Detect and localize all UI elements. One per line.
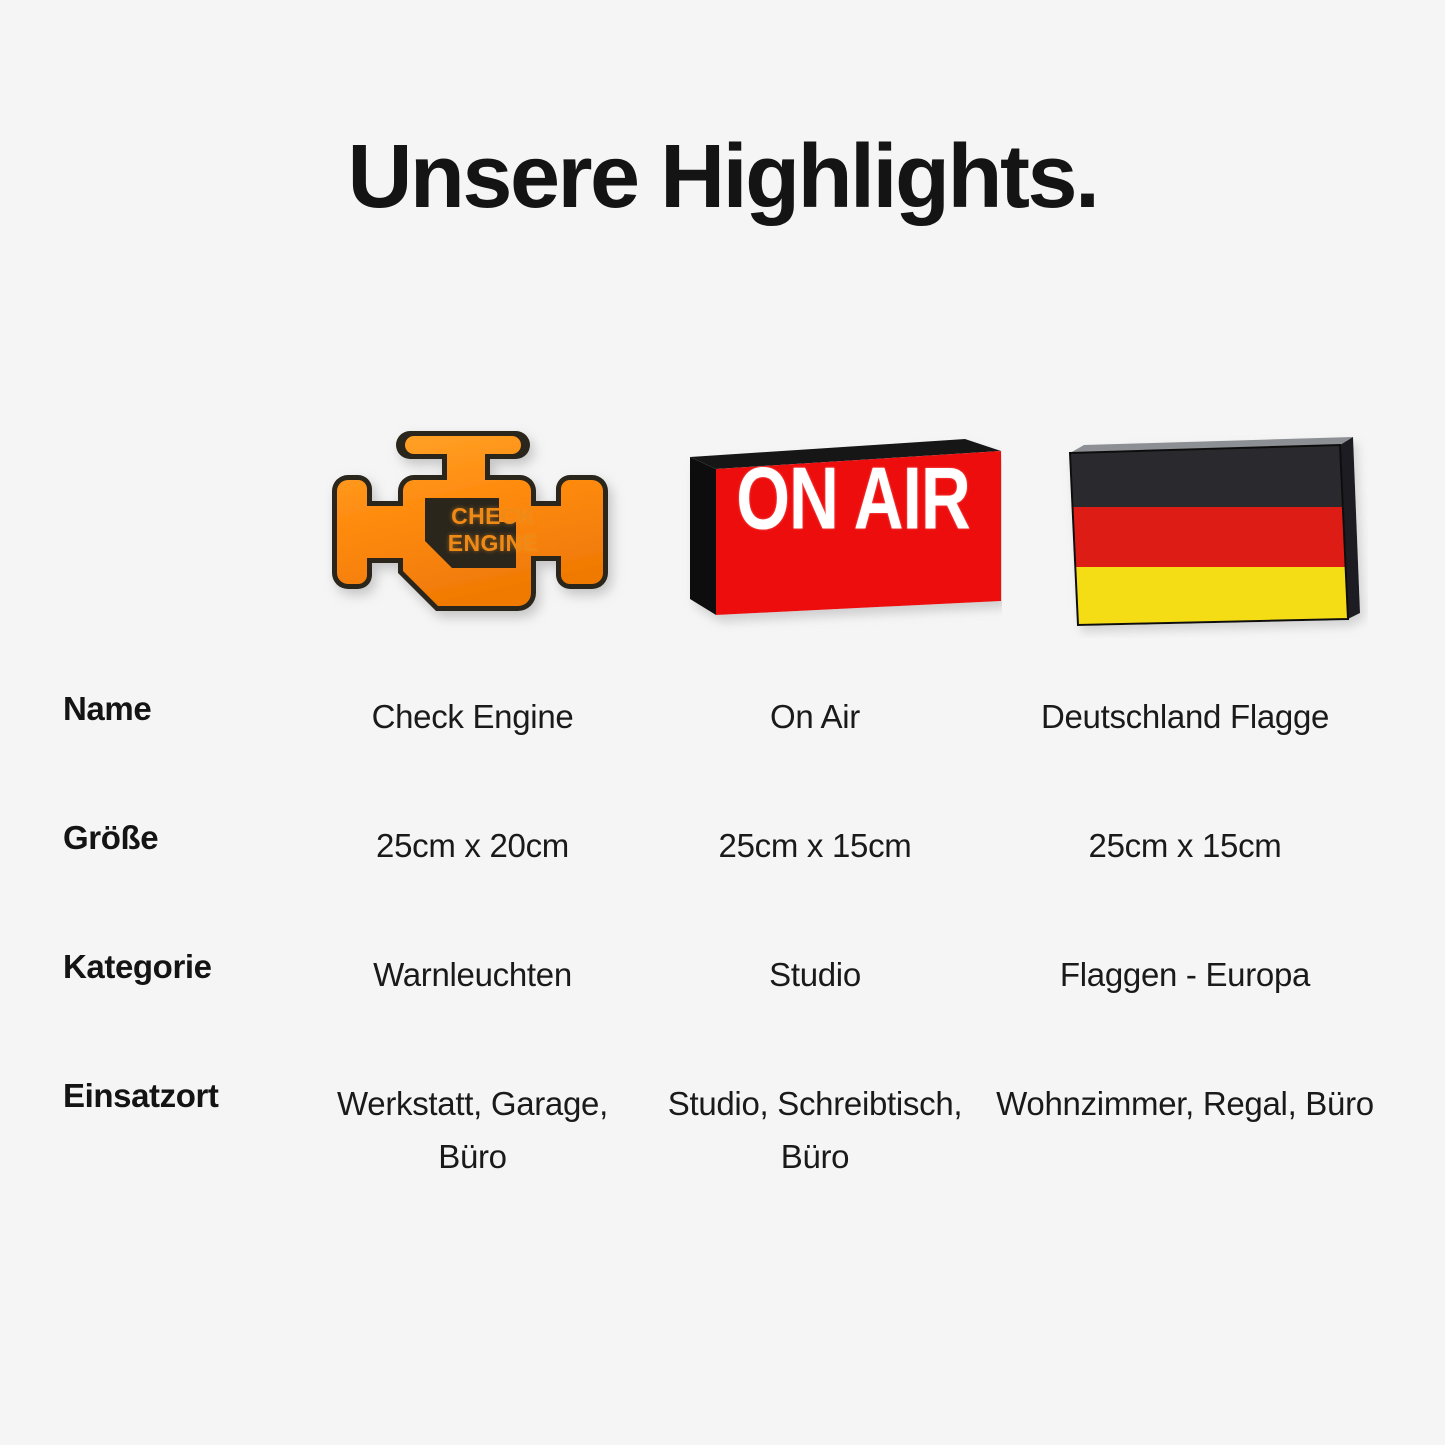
product-image-deutschland-flagge[interactable] bbox=[1040, 415, 1385, 645]
row-label-kategorie: Kategorie bbox=[0, 948, 300, 986]
on-air-lightbox-icon bbox=[672, 433, 1002, 633]
cell-name-on-air: On Air bbox=[645, 690, 985, 743]
table-row: Größe 25cm x 20cm 25cm x 15cm 25cm x 15c… bbox=[0, 819, 1445, 948]
cell-einsatzort-on-air: Studio, Schreibtisch, Büro bbox=[645, 1077, 985, 1184]
cell-kategorie-check-engine: Warnleuchten bbox=[300, 948, 645, 1001]
cell-name-deutschland-flagge: Deutschland Flagge bbox=[985, 690, 1385, 743]
germany-flag-lightbox-icon bbox=[1048, 423, 1368, 638]
row-label-name: Name bbox=[0, 690, 300, 728]
cell-einsatzort-check-engine: Werkstatt, Garage, Büro bbox=[300, 1077, 645, 1184]
cell-kategorie-on-air: Studio bbox=[645, 948, 985, 1001]
product-image-on-air[interactable]: ON AIR bbox=[672, 415, 1002, 645]
cell-name-check-engine: Check Engine bbox=[300, 690, 645, 743]
product-image-check-engine[interactable]: CHECK ENGINE bbox=[320, 415, 665, 645]
table-row: Kategorie Warnleuchten Studio Flaggen - … bbox=[0, 948, 1445, 1077]
row-label-einsatzort: Einsatzort bbox=[0, 1077, 300, 1115]
cell-kategorie-deutschland-flagge: Flaggen - Europa bbox=[985, 948, 1385, 1001]
cell-groesse-deutschland-flagge: 25cm x 15cm bbox=[985, 819, 1385, 872]
table-row: Einsatzort Werkstatt, Garage, Büro Studi… bbox=[0, 1077, 1445, 1247]
table-row: Name Check Engine On Air Deutschland Fla… bbox=[0, 690, 1445, 819]
check-engine-icon bbox=[324, 423, 634, 643]
page-title: Unsere Highlights. bbox=[0, 132, 1445, 222]
spec-table: Name Check Engine On Air Deutschland Fla… bbox=[0, 690, 1445, 1247]
cell-groesse-on-air: 25cm x 15cm bbox=[645, 819, 985, 872]
row-label-groesse: Größe bbox=[0, 819, 300, 857]
product-image-strip: CHECK ENGINE O bbox=[0, 415, 1445, 645]
cell-groesse-check-engine: 25cm x 20cm bbox=[300, 819, 645, 872]
cell-einsatzort-deutschland-flagge: Wohnzimmer, Regal, Büro bbox=[985, 1077, 1385, 1130]
